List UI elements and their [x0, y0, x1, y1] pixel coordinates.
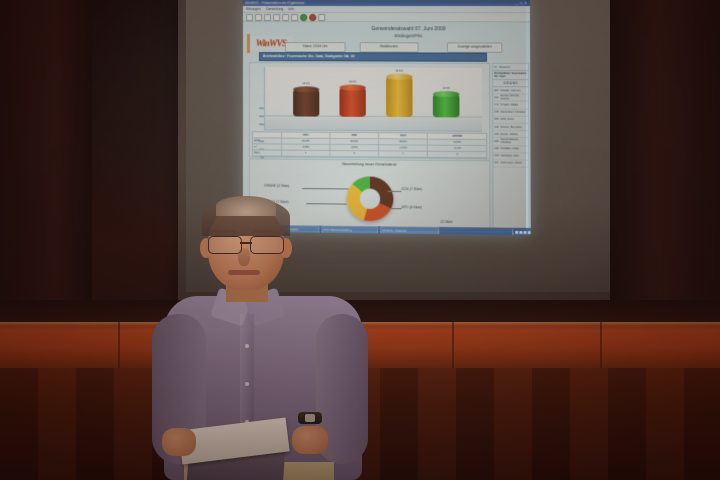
shirt-button: [245, 344, 249, 348]
candidate-nr: 006: [493, 118, 500, 121]
bar-cdu: 25,4%: [293, 89, 319, 116]
cell-sitze-gruene: 3: [428, 151, 487, 158]
shirt-button: [245, 382, 249, 386]
candidate-name: Fischer, Bernhard: [501, 125, 529, 128]
candidate-nr: 011: [493, 96, 500, 99]
candidate-subheader: Briefwahlbez: Feuerwache Stc. Saal: [493, 71, 528, 80]
eyebrow-right: [254, 230, 280, 233]
lens-right: [250, 236, 284, 254]
cell-sitze-fwv: 7: [379, 151, 428, 157]
candidate-name: Emele, Sabine: [501, 133, 529, 136]
toolbar[interactable]: [243, 13, 530, 22]
row-label-sitze: Sitze: [252, 150, 281, 156]
bar-cap-cdu: [293, 86, 319, 92]
printer-icon[interactable]: [523, 231, 526, 234]
candidate-nr: 017: [493, 162, 500, 165]
bar-fwv: 33,5%: [386, 77, 412, 118]
candidate-nr: 010: [493, 103, 500, 106]
photo-scene: WinWVS - Präsentation der Ergebnisse _ □…: [0, 0, 720, 480]
eyebrow-left: [210, 230, 236, 233]
anzeige-button[interactable]: Anzeige ausgewählten: [447, 42, 502, 52]
pie-label-cdu: CDU (7 Sitze): [401, 187, 422, 191]
candidate-nr: 018: [493, 111, 500, 114]
bar-gruene: 14,5%: [433, 94, 460, 117]
candidate-name: Gössler, Carmen: [500, 89, 528, 92]
prev-icon[interactable]: [282, 14, 289, 21]
page-title-line2: Eislingen/Fils: [321, 33, 496, 40]
candidate-name: Fischer-Schmid, Andrea: [500, 95, 528, 101]
bar-value-fwv: 33,5%: [386, 70, 412, 73]
candidate-nr: 013: [493, 155, 500, 158]
wahlbezirke-button[interactable]: Wahlbezirke: [360, 42, 419, 52]
refresh-icon[interactable]: [318, 14, 325, 21]
candidate-nr: 007: [493, 89, 500, 92]
speaker-person: [150, 196, 376, 480]
glasses-bridge: [240, 242, 252, 244]
stop-icon[interactable]: [309, 14, 316, 21]
wood-seam: [452, 322, 454, 368]
open-icon[interactable]: [246, 14, 253, 21]
bar-spd: 26,6%: [339, 88, 365, 117]
chart-icon[interactable]: [273, 14, 280, 21]
wood-seam: [118, 322, 120, 368]
wristwatch: [298, 412, 322, 424]
candidate-name: Rautenbier, Christine: [500, 111, 528, 114]
candidate-nr: 005: [493, 140, 500, 143]
bar-cap-gruene: [433, 91, 460, 97]
logo-text: WinWVS: [256, 39, 287, 48]
next-icon[interactable]: [291, 14, 298, 21]
menu-item-darstellung[interactable]: Darstellung: [266, 6, 283, 12]
save-icon[interactable]: [255, 14, 262, 21]
wood-seam: [600, 322, 602, 368]
candidate-name: Schäffler, Ulrike: [501, 147, 529, 150]
cell-sitze-spd: 5: [330, 150, 379, 156]
curtain-left: [0, 0, 92, 330]
results-table: CDU SPD FWV GRÜNE 2009 25,4% 26,6% 33,5%…: [252, 131, 487, 158]
hand-right: [292, 426, 328, 454]
forehead: [216, 196, 276, 216]
menu-item-info[interactable]: Info: [288, 6, 294, 12]
bar-cap-spd: [339, 85, 365, 91]
mouth: [228, 270, 260, 275]
cell-sitze-cdu: 7: [282, 150, 330, 156]
volume-icon[interactable]: [519, 231, 522, 234]
page-title: Gemeinderatswahl 07. Juni 2009 Eislingen…: [321, 26, 496, 39]
bar-value-gruene: 14,5%: [433, 87, 460, 90]
leader-line-spd: [389, 208, 401, 209]
pie-label-gruene: GRÜNE (3 Sitze): [264, 184, 289, 188]
top-button-row: Stand: 23:54 Uhr Wahlbezirke Anzeige aus…: [285, 42, 527, 51]
play-icon[interactable]: [300, 14, 307, 21]
list-item[interactable]: 017 Kühnmann, Franz: [493, 160, 528, 168]
candidate-nr: 015: [493, 147, 500, 150]
lens-left: [208, 236, 242, 254]
pie-label-spd: SPD (5 Sitze): [402, 205, 422, 209]
candidate-name: Scheidt, Walter: [500, 103, 528, 106]
window-controls[interactable]: _ □ ✕: [516, 0, 528, 6]
clock-icon[interactable]: [528, 231, 531, 234]
logo-accent-bar: [247, 34, 250, 53]
candidate-name: Hessenkämper, Christine: [501, 138, 529, 144]
system-tray[interactable]: [512, 229, 531, 235]
candidate-nr: 014: [493, 125, 500, 128]
bar-cap-fwv: [386, 74, 412, 80]
nose: [238, 248, 250, 266]
candidate-col-name: Bewerber: [499, 65, 528, 68]
print-icon[interactable]: [264, 14, 271, 21]
status-button[interactable]: Stand: 23:54 Uhr: [285, 42, 345, 52]
candidate-name: Kühnmann, Franz: [501, 162, 529, 165]
leader-line-gruene: [302, 188, 348, 189]
candidate-name: Caratiepe, Ayla: [501, 155, 529, 158]
leader-line-cdu: [387, 191, 401, 192]
bar-chart-plot-area: 25,4% 26,6% 33,5% 14,5%: [264, 67, 482, 132]
bar-value-spd: 26,6%: [339, 80, 365, 83]
network-icon[interactable]: [515, 231, 518, 234]
pie-chart-title: Sitzverteilung neuer Gemeinderat: [250, 161, 489, 167]
candidate-nr: 016: [493, 133, 500, 136]
table-row: Sitze 7 5 7 3: [252, 150, 486, 158]
candidate-name: Wolf, Armin: [500, 118, 528, 121]
pie-total-label: 22 Sitze: [440, 220, 452, 224]
candidate-list-panel[interactable]: Nr. Bewerber Briefwahlbez: Feuerwache St…: [492, 63, 530, 234]
curtain-right: [610, 0, 720, 330]
bar-value-cdu: 25,4%: [293, 82, 319, 85]
hand-left: [162, 428, 196, 456]
bar-chart-panel: 35% 30% 25% 20% 15% 10% 5% 0% 25,4% 26,6…: [249, 62, 490, 159]
menu-item-sitzungen[interactable]: Sitzungen: [246, 6, 261, 12]
selected-district-bar[interactable]: Briefwahlbez: Feuerwache Stc. Saal, Stut…: [259, 52, 487, 62]
